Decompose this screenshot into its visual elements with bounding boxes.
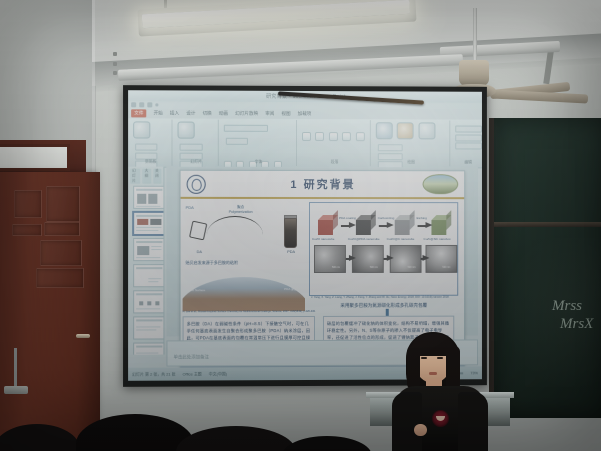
find-icon[interactable] [455,126,482,133]
ribbon-group-label-editing: 编辑 [452,160,482,165]
synthesis-reference-text: J. Yang, X. Yang, Z. Liang, Y. Zhang, J.… [311,296,449,299]
cube-step-4 [431,215,451,235]
ribbon-group-label-clipboard: 剪贴板 [130,160,171,165]
pda-tag-label: PDA [186,205,194,210]
new-slide-icon[interactable] [178,122,195,139]
route-arrow-1 [349,222,356,228]
university-seal-icon [187,175,206,194]
align-left-icon[interactable] [329,132,338,141]
route-arrow-label-2: Carbonizing [378,216,394,220]
wall-bracket-c [113,71,117,75]
tab-insert[interactable]: 插入 [170,110,179,116]
sem-image-4 [426,245,458,273]
presenter-hair-left [407,346,420,390]
ribbon-group-editing[interactable]: 编辑 [452,121,482,167]
pda-coating-label: PDA 涂层 [284,287,297,291]
status-theme: Office 主题 [183,371,202,377]
slide-title: 1 研究背景 [290,176,355,192]
copy-icon[interactable] [135,152,157,159]
wet-surface-label: Wet Surface [189,288,206,292]
presenter [392,332,488,451]
door-panel-top-left [14,190,42,218]
polymerization-diagram: PDA 聚合 Polymerization DA PDA [183,202,305,270]
route-arrow-3 [426,222,433,228]
quick-access-toolbar[interactable] [131,102,158,107]
door-panel-bottom [36,268,84,288]
sem-arrow-2 [387,255,394,261]
tab-addins[interactable]: 加载项 [298,111,312,117]
sweater-logo-icon [432,410,449,427]
blackboard-rail [494,222,601,227]
tab-animation[interactable]: 动画 [219,111,228,117]
cube-step-1 [318,215,338,235]
tab-file[interactable]: 文件 [131,109,146,117]
tab-slides-thumb[interactable]: 幻灯片 [130,169,141,184]
tab-slideshow[interactable]: 幻灯片放映 [235,111,258,117]
redo-icon[interactable] [147,102,152,107]
replace-icon[interactable] [455,134,482,141]
presenter-arm-right [458,392,488,451]
ribbon-group-label-paragraph: 段落 [299,160,370,165]
sem-scale-1: 500 nm [332,266,340,269]
polymerization-label-en: Polymerization [229,210,253,215]
floor-stand-pole [14,348,17,390]
paste-icon[interactable] [133,121,150,138]
cut-icon[interactable] [135,144,157,151]
close-pane-icon[interactable]: 关闭 [153,169,161,184]
ribbon-group-clipboard[interactable]: 剪贴板 [130,119,172,165]
select-icon[interactable] [455,142,482,149]
classroom-door[interactable] [0,172,100,451]
ribbon-group-label-slides: 幻灯片 [175,160,218,165]
sem-image-2 [352,245,384,273]
transom-window [0,144,70,171]
tab-view[interactable]: 视图 [281,111,290,117]
status-slide-indicator: 幻灯片 第 2 张，共 21 张 [132,371,175,377]
ribbon-group-drawing[interactable]: 绘图 [373,120,450,166]
ceiling-fan-motor [459,60,489,86]
slide-editing-area[interactable]: 1 研究背景 PDA 聚合 Polymerization [166,167,478,337]
benzene-ring-structure [189,221,207,241]
wet-surface-dome [183,277,305,311]
thumb-pane-tabs[interactable]: 幻灯片 大纲 关闭 [130,169,161,184]
slide-header: 1 研究背景 [181,171,465,199]
sem-scale-3: 500 nm [408,266,416,269]
sem-image-1 [314,245,346,273]
font-size-box[interactable] [226,138,248,145]
synthesis-route-diagram: PDA coating Carbonizing Etching Cu2O nan… [309,202,458,296]
surface-reference-text: H. Lee et al., Mussel-Inspired Surface C… [183,310,316,313]
thumbnail-slide-1[interactable]: 1 [133,186,164,209]
landscape-banner-icon [423,174,459,194]
sem-arrow-3 [423,255,430,261]
chevron-down-icon[interactable] [155,103,158,106]
cube-step-3 [395,215,415,235]
sem-arrow-1 [349,255,356,261]
sem-scale-4: 500 nm [442,266,450,269]
polymerization-caption: 贻贝启发来源于多巴胺的粘附 [186,260,238,266]
ribbon-group-paragraph[interactable]: 段落 [299,120,371,166]
door-panel-lower [40,240,82,266]
sem-image-3 [390,245,422,273]
shape-fill-icon[interactable] [378,144,403,151]
route-arrow-2 [387,222,394,228]
reactant-label: DA [197,250,202,254]
numbering-icon[interactable] [315,132,324,141]
presenter-hand [414,424,427,436]
font-name-box[interactable] [224,125,268,132]
quick-styles-icon[interactable] [418,122,435,139]
line-spacing-icon[interactable] [356,132,365,141]
route-arrow-label-3: Etching [417,216,427,220]
undo-icon[interactable] [139,102,144,107]
door-panel-mid-left [12,224,42,236]
cube-label-3: Cu2O@C nanocube [387,237,415,241]
bullets-icon[interactable] [302,132,311,141]
ribbon-group-slides[interactable]: 幻灯片 [175,120,219,166]
sem-scale-2: 500 nm [370,266,378,269]
ribbon-group-label-drawing: 绘图 [373,160,449,165]
wall-bracket-a [113,52,117,56]
thumbnail-slide-6[interactable]: 6 [133,316,164,339]
slide-thumbnail-pane[interactable]: 幻灯片 大纲 关闭 1 2 [128,167,164,355]
presenter-arm-left [392,392,422,451]
door-handle[interactable] [76,334,90,338]
cube-label-4: Cu/C@NC nanobox [424,237,451,241]
notes-placeholder: 单击此处添加备注 [174,354,209,359]
chalk-text-line-1: Mrss [552,298,582,315]
product-label: PDA [287,250,295,254]
cube-label-2: Cu2O@PDA nanocube [348,237,380,241]
polymerization-label: 聚合 Polymerization [229,205,253,214]
cube-label-1: Cu2O nanocube [312,237,335,241]
thumbnail-slide-3[interactable]: 3 [133,238,164,261]
presenter-mouth [429,372,437,375]
route-arrow-label-1: PDA coating [339,216,356,220]
shapes-icon[interactable] [376,122,393,139]
ribbon-group-font[interactable]: 字体 [221,120,297,166]
floor-stand-base [4,386,28,394]
thumbnail-slide-7[interactable]: 7 [133,342,164,354]
ceiling-fan-rod [473,8,477,64]
ribbon-body[interactable]: 剪贴板 幻灯片 [128,118,482,168]
tab-home[interactable]: 开始 [154,110,163,116]
thumbnail-slide-5[interactable]: 5 [133,290,164,313]
tab-outline-thumb[interactable]: 大纲 [143,169,151,184]
cube-step-2 [356,215,376,235]
ribbon-group-label-font: 字体 [221,160,296,165]
align-center-icon[interactable] [342,132,351,141]
surface-adhesion-diagram: Wet Surface PDA 涂层 [183,273,305,311]
layout-icon[interactable] [180,144,203,151]
shape-outline-icon[interactable] [378,153,403,160]
thumbnail-slide-2[interactable]: 2 [133,212,164,235]
tab-review[interactable]: 审阅 [265,111,274,117]
wall-bracket-b [113,62,117,66]
chalk-text-line-2: MrsX [560,316,593,333]
blackboard: Mrss MrsX [489,118,601,418]
tab-transition[interactable]: 切换 [203,111,212,117]
mid-caption-text: 采用聚多巴胺为氮源碳化形成多孔碳壳包覆 [309,303,458,309]
door-panel-mid-right [44,222,80,236]
tab-design[interactable]: 设计 [186,111,195,117]
classroom-photo-scene: Mrss MrsX 研究背景 - Microsoft PowerPoint 文件 [0,0,601,451]
thumbnail-slide-4[interactable]: 4 [133,264,164,287]
arrange-icon[interactable] [397,122,414,139]
door-panel-top-right [46,186,80,222]
pda-solution-vial [284,218,297,248]
save-icon[interactable] [131,102,136,107]
reaction-curve-arrow [207,216,263,235]
reset-icon[interactable] [180,152,203,159]
status-language: 中文(中国) [209,371,227,377]
